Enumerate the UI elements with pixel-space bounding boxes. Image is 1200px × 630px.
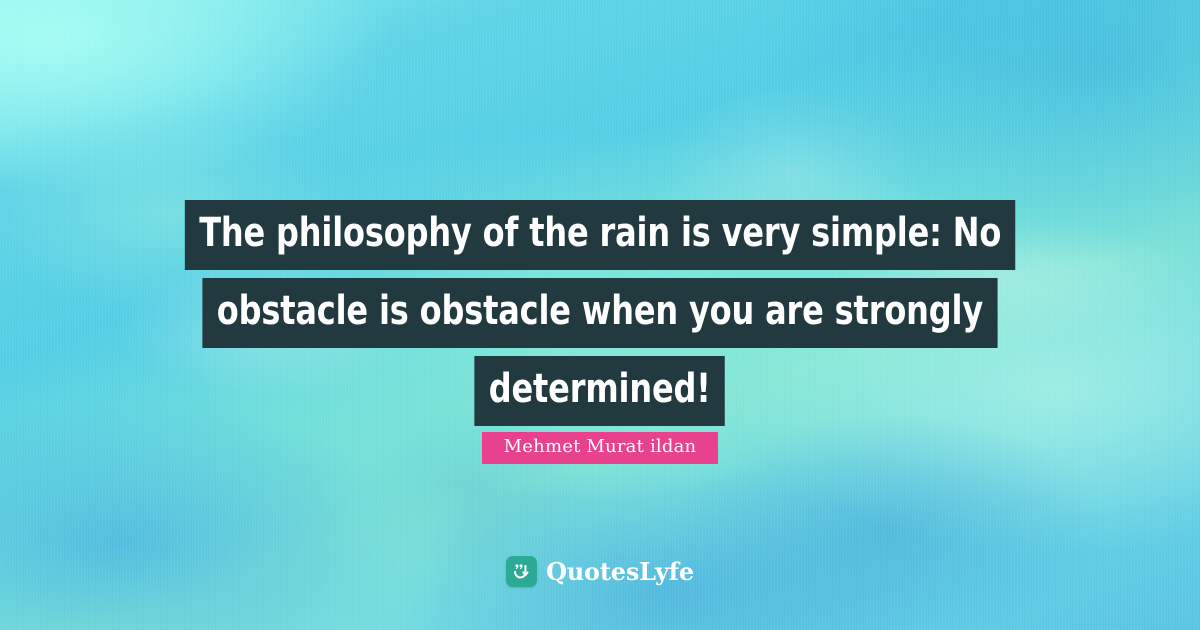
quote-line-2: obstacle is obstacle when you are strong… xyxy=(202,278,997,348)
quote-line-3: determined! xyxy=(475,356,726,426)
author-badge[interactable]: Mehmet Murat ildan xyxy=(482,432,719,464)
quote-line-1: The philosophy of the rain is very simpl… xyxy=(185,200,1016,270)
brand-name: QuotesLyfe xyxy=(546,560,694,584)
attribution: Mehmet Murat ildan xyxy=(0,432,1200,464)
quote-card: The philosophy of the rain is very simpl… xyxy=(0,0,1200,630)
card-content: The philosophy of the rain is very simpl… xyxy=(0,0,1200,630)
brand-logo[interactable]: QuotesLyfe xyxy=(0,556,1200,587)
quote-text-block: The philosophy of the rain is very simpl… xyxy=(0,200,1200,434)
quote-smiley-icon xyxy=(506,556,537,587)
